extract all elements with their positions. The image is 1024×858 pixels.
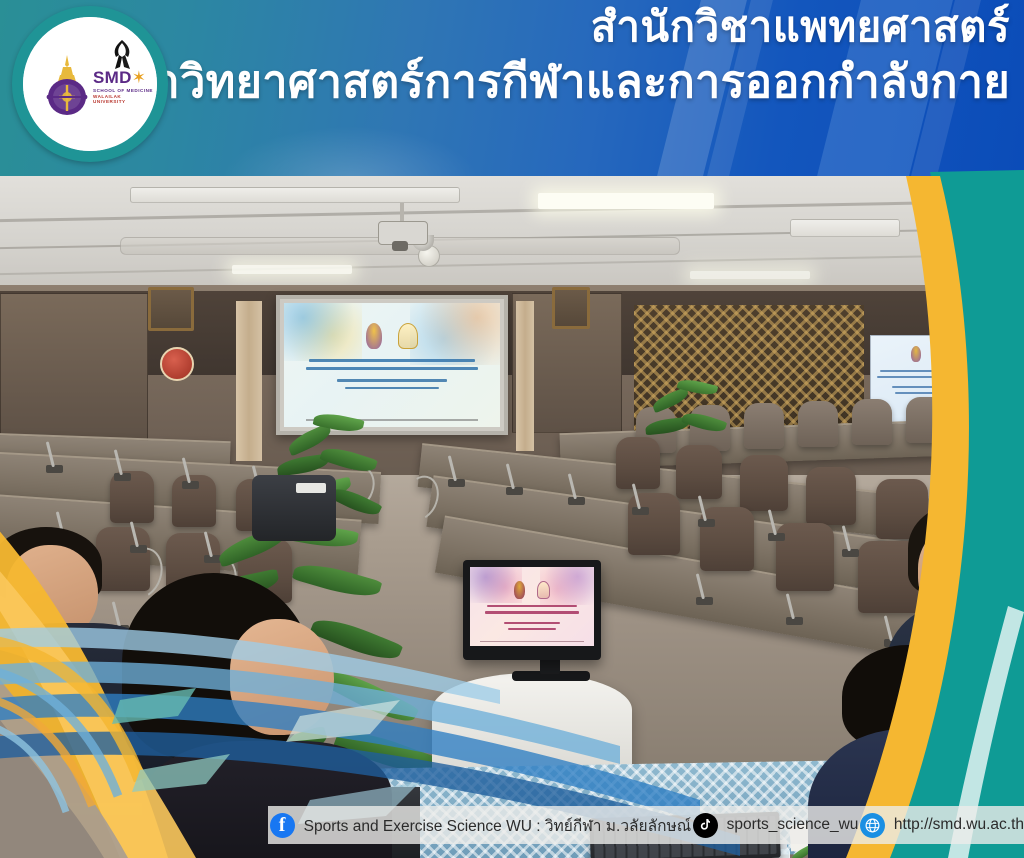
- ceiling-light: [690, 271, 810, 279]
- tiktok-label: sports_science_wu: [727, 816, 859, 834]
- ceiling-light: [232, 265, 352, 274]
- microphone: [186, 459, 194, 489]
- institution-seal: [160, 347, 194, 381]
- ceiling-light: [538, 193, 714, 209]
- microphone: [452, 457, 460, 487]
- microphone: [772, 511, 780, 541]
- laptop-bag: [252, 475, 336, 541]
- microphone: [790, 595, 798, 625]
- crest-glyph: [514, 581, 525, 599]
- eyeglasses: [924, 561, 994, 587]
- header-title-block: สำนักวิชาแพทยศาสตร์ สาขาวิทยาศาสตร์การกี…: [70, 6, 1010, 105]
- wall-picture-frame: [552, 287, 590, 329]
- smd-brand-text: SMD: [93, 68, 132, 87]
- facebook-icon[interactable]: f: [270, 813, 295, 838]
- microphone: [700, 575, 708, 605]
- lamp-glyph: [537, 581, 550, 599]
- wall-picture-frame: [148, 287, 194, 331]
- microphone: [50, 443, 58, 473]
- tiktok-icon[interactable]: [693, 813, 718, 838]
- microphone: [572, 475, 580, 505]
- curtain: [236, 301, 262, 461]
- microphone: [510, 465, 518, 495]
- globe-icon[interactable]: [860, 813, 885, 838]
- smd-brand-dot: ✶: [132, 68, 147, 87]
- poster-canvas: สำนักวิชาแพทยศาสตร์ สาขาวิทยาศาสตร์การกี…: [0, 0, 1024, 858]
- crest-glyph: [366, 323, 382, 349]
- facebook-link[interactable]: f Sports and Exercise Science WU : วิทย์…: [270, 813, 692, 838]
- microphone: [118, 451, 126, 481]
- page-title: สำนักวิชาแพทยศาสตร์: [70, 6, 1010, 49]
- mourning-ribbon-icon: [109, 37, 135, 71]
- organization-logo[interactable]: SPORT AND EXERCISE SCIENCE: [12, 6, 168, 162]
- monitor: [463, 560, 601, 660]
- microphone: [702, 497, 710, 527]
- website-link[interactable]: http://smd.wu.ac.th: [860, 813, 1024, 838]
- facebook-label: Sports and Exercise Science WU : วิทย์กี…: [304, 813, 692, 838]
- page-subtitle: สาขาวิทยาศาสตร์การกีฬาและการออกกำลังกาย: [70, 59, 1010, 105]
- potted-plant: [640, 375, 730, 465]
- smd-subtitle-school: SCHOOL OF MEDICINE: [93, 88, 153, 93]
- event-photo: [0, 175, 1024, 858]
- ceiling: [0, 175, 1024, 295]
- tiktok-link[interactable]: sports_science_wu: [693, 813, 859, 838]
- microphone: [636, 485, 644, 515]
- walailak-university-crest-icon: [41, 53, 93, 117]
- smd-subtitle-university: WALAILAK UNIVERSITY: [93, 94, 153, 104]
- microphone: [846, 527, 854, 557]
- website-label: http://smd.wu.ac.th: [894, 816, 1024, 834]
- smd-brand-block: SMD✶ SCHOOL OF MEDICINE WALAILAK UNIVERS…: [93, 69, 153, 104]
- social-footer-bar: f Sports and Exercise Science WU : วิทย์…: [268, 806, 1024, 844]
- curtain: [516, 301, 534, 451]
- lamp-glyph: [398, 323, 418, 349]
